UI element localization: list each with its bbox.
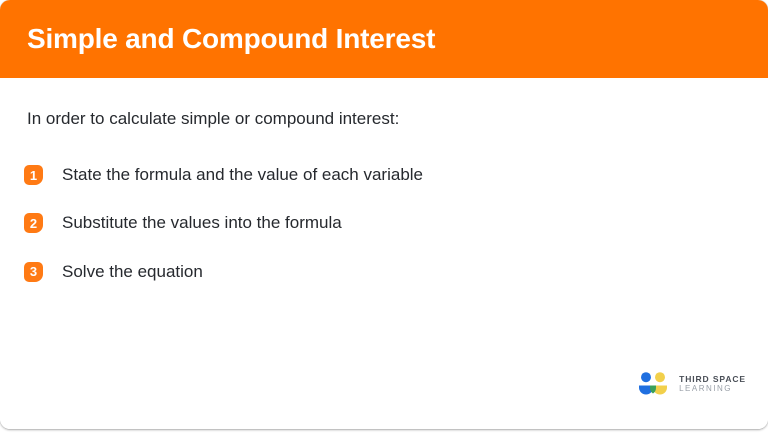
list-item: 3 Solve the equation	[24, 261, 724, 282]
step-number-badge: 2	[24, 213, 43, 233]
slide-card: Simple and Compound Interest In order to…	[0, 0, 768, 429]
brand-wordmark: THIRD SPACE LEARNING	[679, 374, 746, 395]
slide-header: Simple and Compound Interest	[0, 0, 768, 78]
list-item: 2 Substitute the values into the formula	[24, 212, 724, 233]
step-text: Substitute the values into the formula	[62, 212, 342, 233]
brand-name-line-2: LEARNING	[679, 384, 746, 394]
step-number-badge: 1	[24, 165, 43, 185]
brand-logo: THIRD SPACE LEARNING	[636, 371, 746, 397]
slide-body: In order to calculate simple or compound…	[0, 78, 768, 429]
list-item: 1 State the formula and the value of eac…	[24, 164, 724, 185]
step-text: Solve the equation	[62, 261, 203, 282]
step-text: State the formula and the value of each …	[62, 164, 423, 185]
page-title: Simple and Compound Interest	[0, 25, 435, 53]
intro-text: In order to calculate simple or compound…	[27, 108, 399, 130]
two-people-icon	[636, 371, 670, 397]
brand-name-line-1: THIRD SPACE	[679, 374, 746, 385]
steps-list: 1 State the formula and the value of eac…	[24, 164, 724, 309]
step-number-badge: 3	[24, 262, 43, 282]
